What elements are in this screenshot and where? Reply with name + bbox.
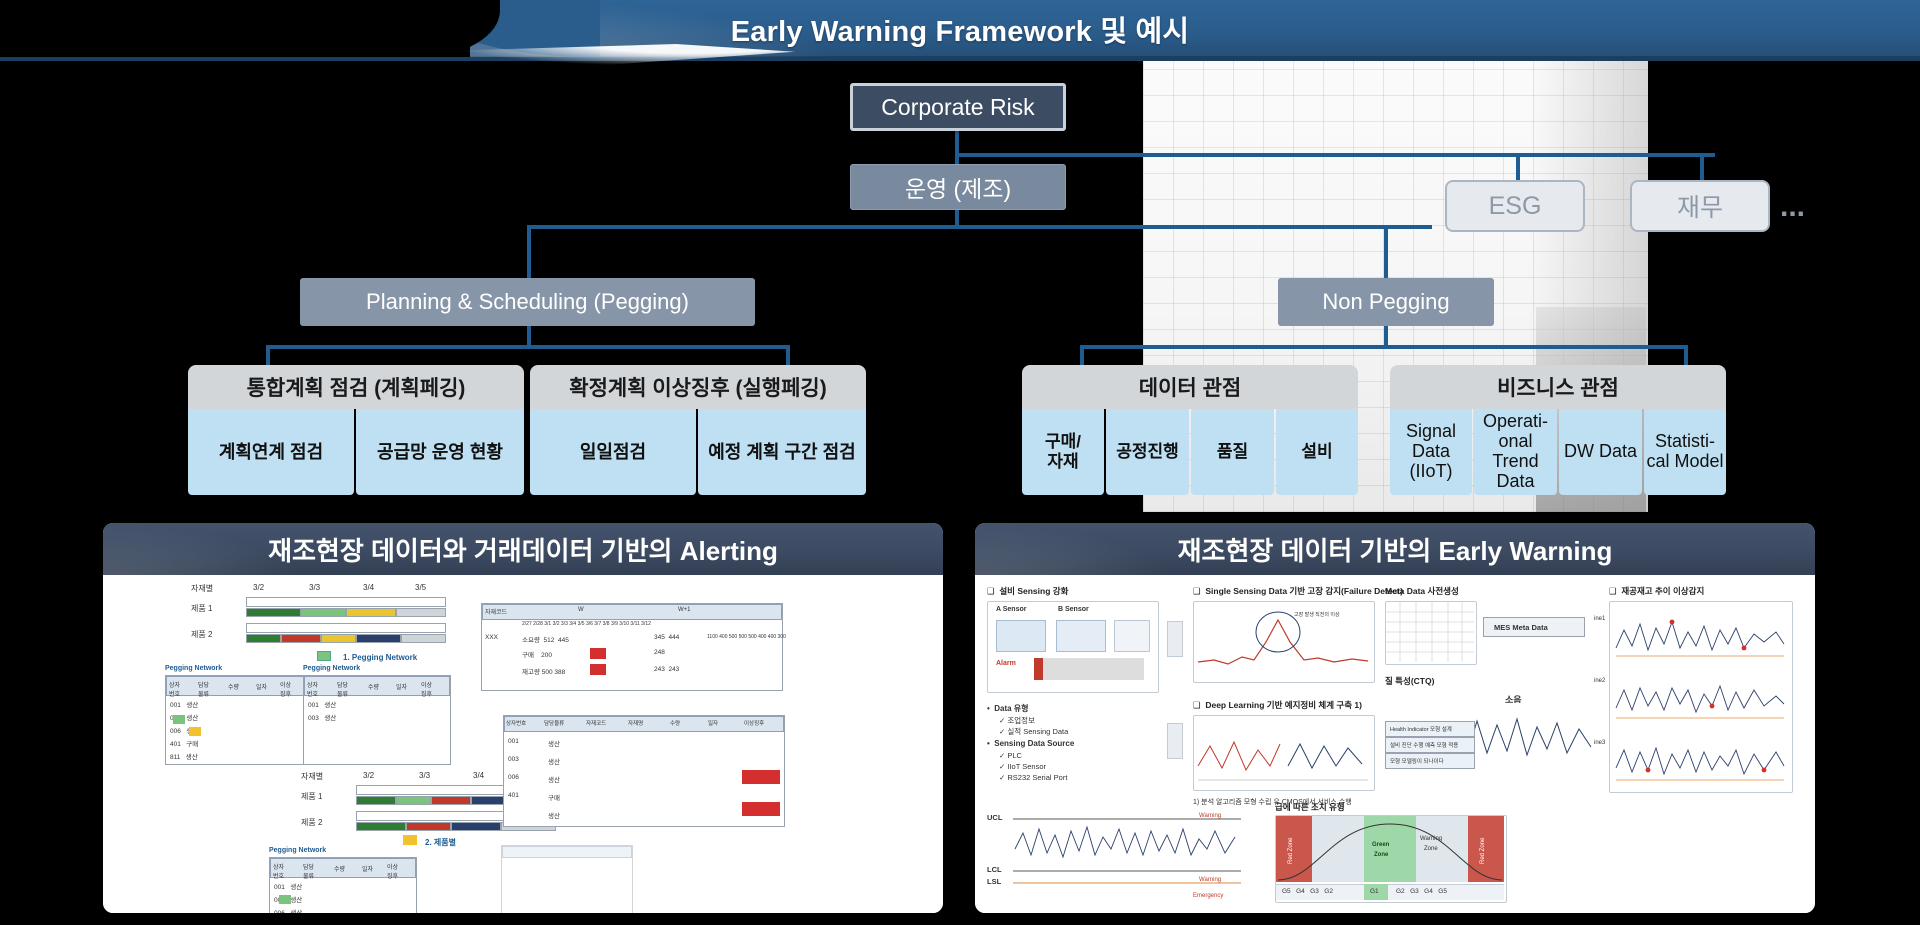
mock-chart-wip-3 [1614,732,1786,786]
panel-early-warning[interactable]: 재조현장 데이터 기반의 Early Warning ❑ 설비 Sensing … [975,523,1815,913]
leaf-equipment-label: 설비 [1301,442,1332,462]
svg-text:Green: Green [1372,842,1390,848]
svg-text:Zone: Zone [1424,846,1438,852]
mock-chart-control: Warning Warning Emergency [1013,809,1241,899]
connector-nonpegging-split [1080,345,1688,349]
node-corporate-risk-label: Corporate Risk [881,94,1034,121]
mock-chart-wip-2 [1614,670,1786,724]
node-corporate-risk[interactable]: Corporate Risk [850,83,1066,131]
svg-text:Red Zone: Red Zone [1288,837,1294,864]
mock-card-wip: ine1 ine2 ine3 [1609,601,1793,793]
mock-pegging-label-2: 2. 제품별 [425,837,456,848]
leaf-statistical-model[interactable]: Statisti-cal Model [1644,409,1726,495]
leaf-signal-data-iiot[interactable]: Signal Data (IIoT) [1390,409,1472,495]
group-header-data-perspective[interactable]: 데이터 관점 [1022,365,1358,409]
group-header-business-perspective-label: 비즈니스 관점 [1497,372,1619,402]
connector-esg-down [1516,153,1520,183]
connector-nonpegging-right [1684,345,1688,365]
leaf-process-progress-label: 공정진행 [1116,442,1179,462]
connector-finance-down [1700,153,1704,183]
connector-to-nonpegging [1384,225,1388,282]
mock-node-green-1 [317,651,331,661]
leaf-statistical-model-label: Statisti-cal Model [1644,432,1726,472]
leaf-dw-data-label: DW Data [1564,442,1637,462]
connector-op-split [527,225,1432,229]
panel-early-warning-header: 재조현장 데이터 기반의 Early Warning [975,523,1815,575]
slide-root: Early Warning Framework 및 예시 Corporate R… [0,0,1920,925]
leaf-quality[interactable]: 품질 [1191,409,1274,495]
leaf-signal-data-iiot-label: Signal Data (IIoT) [1390,422,1472,481]
mock-table-week: 자재코드 W W+1 2/27 2/28 3/1 3/2 3/3 3/4 3/5… [481,603,783,691]
node-non-pegging[interactable]: Non Pegging [1278,278,1494,326]
leaf-scheduled-plan-section-check-label: 예정 계획 구간 점검 [708,442,855,463]
mock-meta-grid [1386,602,1474,662]
mock-card-bell: Green Zone Warning Zone Red Zone Red Zon… [1275,815,1507,903]
mock-arrow-2 [1167,723,1183,759]
svg-text:Zone: Zone [1374,852,1389,858]
leaf-supply-chain-status[interactable]: 공급망 운영 현황 [356,409,524,495]
connector-corp-right [955,153,1715,157]
node-non-pegging-label: Non Pegging [1322,289,1449,315]
leaf-purchase-material[interactable]: 구매/ 자재 [1022,409,1104,495]
connector-nonpegging-left [1080,345,1084,365]
leaf-supply-chain-status-label: 공급망 운영 현황 [377,442,503,463]
mock-chart-wip-1 [1614,608,1786,662]
leaf-plan-linkage-check[interactable]: 계획연계 점검 [188,409,354,495]
connector-nonpegging-down [1384,325,1388,347]
svg-text:고장 발생 직전의 이상: 고장 발생 직전의 이상 [1294,611,1340,618]
node-more-ellipsis: ... [1780,190,1805,224]
node-finance[interactable]: 재무 [1630,180,1770,232]
page-title: Early Warning Framework 및 예시 [0,0,1920,57]
mock-chart-failure: 고장 발생 직전의 이상 [1194,602,1372,680]
mock-card-deep-learning [1193,715,1375,791]
leaf-quality-label: 품질 [1217,442,1248,462]
svg-text:Warning: Warning [1199,877,1221,883]
leaf-process-progress[interactable]: 공정진행 [1106,409,1189,495]
group-header-integrated-plan-label: 통합계획 점검 (계획페깅) [247,372,466,402]
mock-section-ctq: 질 특성(CTQ) [1385,675,1434,687]
panel-alerting[interactable]: 재조현장 데이터와 거래데이터 기반의 Alerting 자재별 3/2 3/3… [103,523,943,913]
connector-op-down [955,207,959,227]
leaf-operational-trend-data[interactable]: Operati-onal Trend Data [1474,409,1557,495]
mock-doc-faded [501,845,633,913]
svg-text:Warning: Warning [1199,813,1221,819]
mock-table-detail: 상자번호 담당물류 자재코드 자재명 수량 일자 이상징후 001 생산 003… [503,715,785,827]
leaf-dw-data[interactable]: DW Data [1559,409,1642,495]
mock-table-mid: 상자번호 담당물류 수량 일자 이상징후 001 생산 003 생산 [303,675,451,765]
node-operation[interactable]: 운영 (제조) [850,164,1066,210]
mock-section-wip: ❑ 재공재고 추이 이상감지 [1609,585,1704,597]
node-planning-scheduling-label: Planning & Scheduling (Pegging) [366,289,689,315]
panel-alerting-body: 자재별 3/2 3/3 3/4 3/5 제품 1 제품 2 1. [103,575,943,913]
group-header-data-perspective-label: 데이터 관점 [1139,372,1241,402]
group-header-integrated-plan[interactable]: 통합계획 점검 (계획페깅) [188,365,524,409]
node-esg[interactable]: ESG [1445,180,1585,232]
mock-table-left: 상자번호 담당물류 수량 일자 이상징후 001 생산 003 생산 006 생… [165,675,307,765]
leaf-operational-trend-data-label: Operati-onal Trend Data [1474,412,1557,491]
connector-pegging-left [266,345,270,365]
mock-chart-dl [1194,716,1372,788]
mock-section-action: 급에 따른 조치 유형 [1275,801,1345,813]
group-header-confirmed-plan[interactable]: 확정계획 이상징후 (실행페깅) [530,365,866,409]
mock-section-meta: Meta Data 사전생성 [1385,585,1459,597]
svg-text:Emergency: Emergency [1193,893,1223,899]
panel-alerting-title: 재조현장 데이터와 거래데이터 기반의 Alerting [268,531,778,568]
mock-card-sensor: A Sensor B Sensor Alarm [987,601,1159,693]
panel-early-warning-body: ❑ 설비 Sensing 강화 A Sensor B Sensor Alarm … [975,575,1815,913]
node-planning-scheduling[interactable]: Planning & Scheduling (Pegging) [300,278,755,326]
panel-early-warning-title: 재조현장 데이터 기반의 Early Warning [1178,531,1613,568]
leaf-daily-check-label: 일일점검 [580,442,646,463]
panel-alerting-header: 재조현장 데이터와 거래데이터 기반의 Alerting [103,523,943,575]
mock-section-single-sensing: ❑ Single Sensing Data 기반 고장 감지(Failure D… [1193,585,1403,597]
leaf-purchase-material-label: 구매/ 자재 [1045,432,1081,471]
connector-pegging-split [266,345,790,349]
mock-chart-bell: Green Zone Warning Zone Red Zone Red Zon… [1276,816,1504,882]
connector-pegging-down [527,325,531,347]
node-finance-label: 재무 [1677,188,1723,224]
node-esg-label: ESG [1489,192,1542,221]
mock-arrow-1 [1167,621,1183,657]
group-header-confirmed-plan-label: 확정계획 이상징후 (실행페깅) [569,372,827,402]
connector-to-pegging [527,225,531,282]
connector-pegging-right [786,345,790,365]
leaf-equipment[interactable]: 설비 [1276,409,1358,495]
mock-card-meta-grid [1385,601,1477,665]
leaf-daily-check[interactable]: 일일점검 [530,409,696,495]
mock-table-bottom: 상자번호 담당물류 수량 일자 이상징후 001 생산 003 생산 006 생… [269,857,417,913]
mock-pegging-label-1: 1. Pegging Network [343,653,417,662]
group-header-business-perspective[interactable]: 비즈니스 관점 [1390,365,1726,409]
node-operation-label: 운영 (제조) [905,170,1011,204]
mock-mes-meta-box: MES Meta Data [1483,617,1585,637]
svg-text:Warning: Warning [1420,836,1442,842]
leaf-scheduled-plan-section-check[interactable]: 예정 계획 구간 점검 [698,409,866,495]
mock-gantt-top: 자재별 3/2 3/3 3/4 3/5 제품 1 제품 2 [191,583,451,649]
mock-section-sensing: ❑ 설비 Sensing 강화 [987,585,1068,597]
mock-card-control-chart: Warning Warning Emergency [1013,809,1243,901]
leaf-plan-linkage-check-label: 계획연계 점검 [219,442,323,463]
mock-section-deep-learning: ❑ Deep Learning 기반 예지정비 체계 구축 1) [1193,699,1362,711]
mock-card-failure-detect: 고장 발생 직전의 이상 [1193,601,1375,683]
svg-text:Red Zone: Red Zone [1480,837,1486,864]
